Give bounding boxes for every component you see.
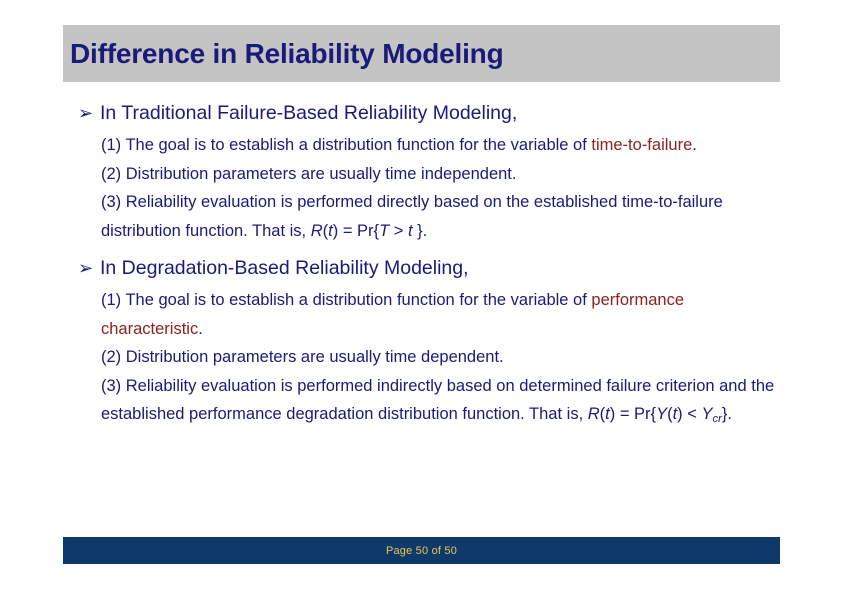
reliability-formula: R(t) = Pr{Y(t) < Ycr}. bbox=[588, 405, 732, 423]
bullet-heading: ➢In Degradation-Based Reliability Modeli… bbox=[0, 253, 842, 283]
formula-token: T bbox=[379, 222, 389, 240]
formula-token: ) = Pr{ bbox=[610, 405, 656, 423]
sub-item-text: Distribution parameters are usually time… bbox=[121, 348, 503, 366]
bullet-list: ➢In Traditional Failure-Based Reliabilit… bbox=[0, 98, 842, 433]
bullet-block: ➢In Degradation-Based Reliability Modeli… bbox=[0, 253, 842, 433]
formula-subscript: cr bbox=[713, 413, 722, 425]
sub-item-number: (2) bbox=[101, 165, 121, 183]
sub-item: (2) Distribution parameters are usually … bbox=[0, 343, 842, 372]
highlighted-term: time-to-failure bbox=[591, 136, 692, 154]
sub-item-number: (3) bbox=[101, 193, 121, 211]
slide-title-bar: Difference in Reliability Modeling bbox=[63, 25, 780, 82]
bullet-arrow-icon: ➢ bbox=[78, 253, 93, 283]
sub-item-list: (1) The goal is to establish a distribut… bbox=[0, 131, 842, 245]
sub-item-number: (1) bbox=[101, 136, 121, 154]
sub-item-number: (2) bbox=[101, 348, 121, 366]
formula-token: Y bbox=[701, 405, 712, 423]
slide-body: ➢In Traditional Failure-Based Reliabilit… bbox=[0, 98, 842, 433]
formula-token: > bbox=[389, 222, 408, 240]
sub-item-number: (3) bbox=[101, 377, 121, 395]
sub-item-text: Distribution parameters are usually time… bbox=[121, 165, 516, 183]
bullet-block: ➢In Traditional Failure-Based Reliabilit… bbox=[0, 98, 842, 245]
bullet-arrow-icon: ➢ bbox=[78, 98, 93, 128]
page-number: Page 50 of 50 bbox=[386, 545, 457, 557]
block-spacer bbox=[0, 245, 842, 253]
formula-token: R bbox=[311, 222, 323, 240]
sub-item-text-tail: . bbox=[692, 136, 697, 154]
reliability-formula: R(t) = Pr{T > t }. bbox=[311, 222, 428, 240]
sub-item: (1) The goal is to establish a distribut… bbox=[0, 286, 842, 343]
sub-item-number: (1) bbox=[101, 291, 121, 309]
sub-item: (1) The goal is to establish a distribut… bbox=[0, 131, 842, 160]
formula-token: R bbox=[588, 405, 600, 423]
formula-token: Y bbox=[656, 405, 667, 423]
sub-item-text-tail: . bbox=[198, 320, 203, 338]
bullet-heading-text: In Traditional Failure-Based Reliability… bbox=[100, 102, 517, 124]
bullet-heading-text: In Degradation-Based Reliability Modelin… bbox=[100, 257, 469, 279]
sub-item: (2) Distribution parameters are usually … bbox=[0, 160, 842, 189]
bullet-heading: ➢In Traditional Failure-Based Reliabilit… bbox=[0, 98, 842, 128]
formula-token: ) < bbox=[677, 405, 701, 423]
slide-footer-bar: Page 50 of 50 bbox=[63, 537, 780, 564]
sub-item-list: (1) The goal is to establish a distribut… bbox=[0, 286, 842, 433]
slide-canvas: Difference in Reliability Modeling ➢In T… bbox=[0, 0, 842, 595]
sub-item-text: The goal is to establish a distribution … bbox=[121, 136, 591, 154]
sub-item: (3) Reliability evaluation is performed … bbox=[0, 188, 842, 245]
page-title: Difference in Reliability Modeling bbox=[70, 38, 504, 70]
formula-token: ) = Pr{ bbox=[333, 222, 379, 240]
sub-item: (3) Reliability evaluation is performed … bbox=[0, 372, 842, 434]
sub-item-text: The goal is to establish a distribution … bbox=[121, 291, 591, 309]
formula-token: }. bbox=[722, 405, 732, 423]
formula-token: }. bbox=[413, 222, 428, 240]
